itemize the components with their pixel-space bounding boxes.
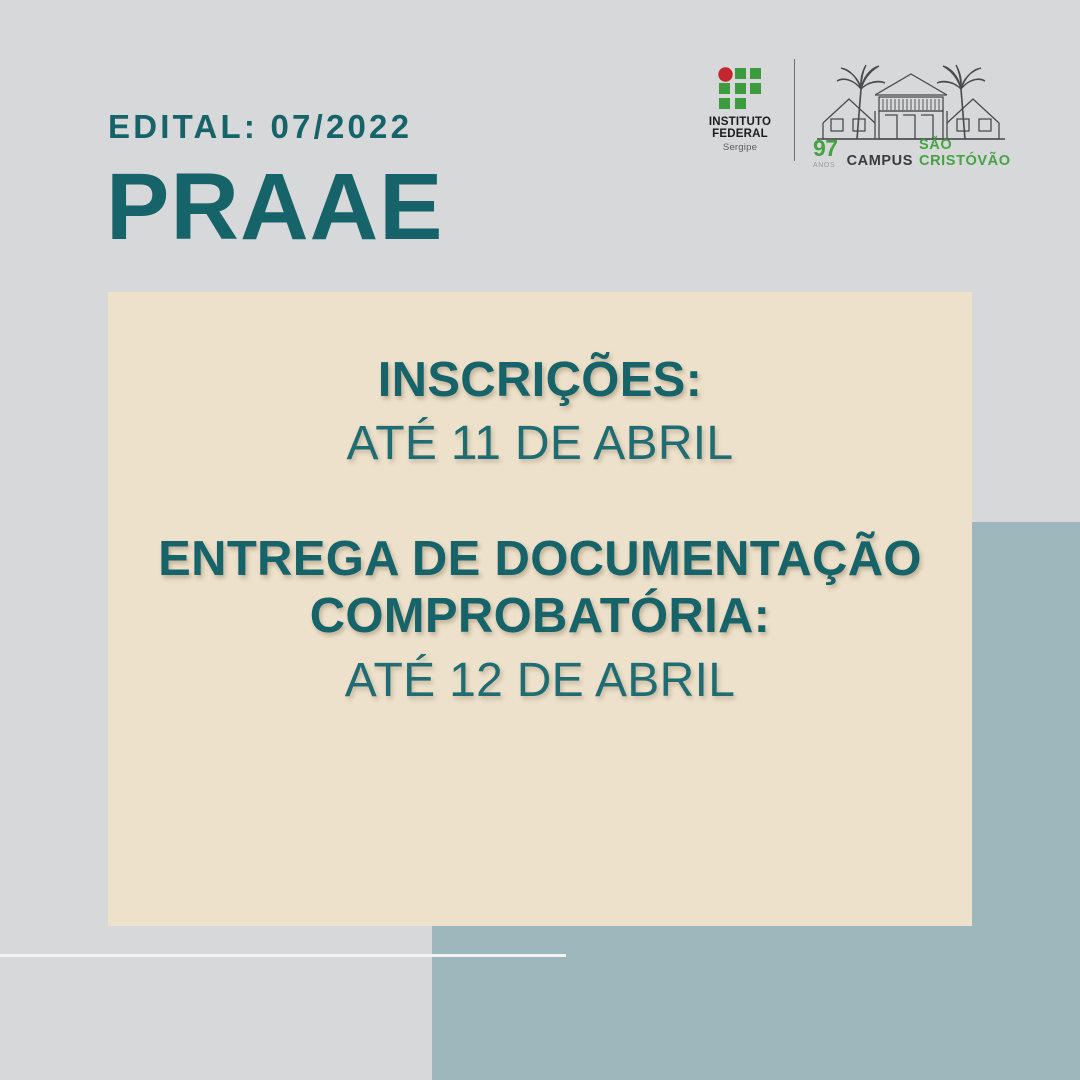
if-pixel-grid-icon	[718, 67, 762, 113]
inscricoes-heading: INSCRIÇÕES:	[108, 352, 972, 409]
if-line-federal: FEDERAL	[709, 129, 771, 141]
if-wordmark: INSTITUTO FEDERAL Sergipe	[709, 117, 771, 152]
campus-building-icon	[813, 51, 1009, 147]
campus-word: CAMPUS	[847, 153, 913, 169]
instituto-federal-logo: INSTITUTO FEDERAL Sergipe	[700, 67, 780, 152]
campus-years-word: ANOS	[813, 162, 838, 169]
poster-canvas: EDITAL: 07/2022 PRAAE INSTITUTO FEDERAL	[0, 0, 1080, 1080]
content-panel: INSCRIÇÕES: ATÉ 11 DE ABRIL ENTREGA DE D…	[108, 292, 972, 926]
decorative-white-rule	[0, 954, 566, 957]
logo-divider	[794, 59, 795, 161]
campus-years: 97 ANOS	[813, 137, 838, 169]
decorative-block-bottom	[432, 926, 1080, 1080]
campus-caption: 97 ANOS CAMPUS SÃO CRISTÓVÃO	[813, 137, 1009, 169]
logo-group: INSTITUTO FEDERAL Sergipe	[700, 50, 1020, 170]
campus-logo: 97 ANOS CAMPUS SÃO CRISTÓVÃO	[813, 51, 1009, 169]
page-title: PRAAE	[106, 158, 444, 258]
documentacao-deadline: ATÉ 12 DE ABRIL	[108, 652, 972, 710]
campus-name: SÃO CRISTÓVÃO	[919, 137, 1011, 169]
if-state-label: Sergipe	[709, 143, 771, 153]
deadline-block-documentacao: ENTREGA DE DOCUMENTAÇÃO COMPROBATÓRIA: A…	[108, 531, 972, 709]
deadline-block-inscricoes: INSCRIÇÕES: ATÉ 11 DE ABRIL	[108, 352, 972, 473]
campus-years-number: 97	[813, 135, 838, 161]
documentacao-heading: ENTREGA DE DOCUMENTAÇÃO COMPROBATÓRIA:	[108, 531, 972, 646]
inscricoes-deadline: ATÉ 11 DE ABRIL	[108, 415, 972, 473]
edital-label: EDITAL: 07/2022	[108, 108, 412, 146]
